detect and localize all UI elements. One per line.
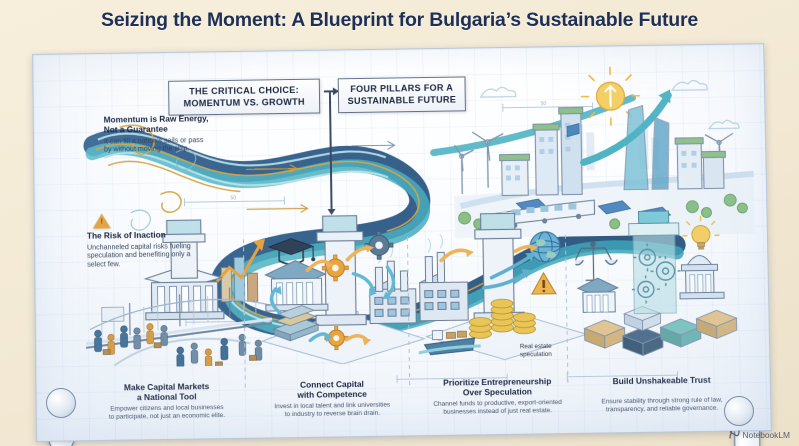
tree-icon (458, 194, 747, 231)
pillar-divider (243, 239, 246, 389)
university-icon (265, 260, 328, 311)
pillar-caption-capital-markets: Make Capital Markets a National Tool Emp… (76, 380, 257, 422)
cargo-ship-icon (418, 330, 480, 355)
arrow-between-headers (324, 90, 338, 92)
blueprint-scroll: 50 80 50 (34, 48, 768, 436)
coin-stack-icon (469, 299, 536, 339)
sun-icon (581, 67, 640, 126)
pillar-divider (407, 237, 410, 387)
solar-panel-icon (515, 122, 671, 221)
pillar-scene-entrepreneurship (417, 210, 595, 363)
scroll-curl-bottom-right (724, 396, 754, 426)
annotation-line1: Real estate (520, 343, 552, 350)
callout-momentum: Momentum is Raw Energy, Not a Guarantee … (104, 114, 209, 154)
momentum-streams: 50 80 50 (33, 44, 772, 442)
callout-heading-line2: Not a Guarantee (104, 123, 168, 134)
pillar-title-line1: Connect Capital (300, 379, 364, 390)
pillar-title-line2: a National Tool (137, 391, 197, 402)
globe-icon (530, 232, 561, 262)
lightbulb-icon (683, 216, 720, 250)
callout-heading-line1: Momentum is Raw Energy, (104, 113, 209, 125)
scroll-curl-bottom-left (46, 388, 76, 418)
pillar-title-line1: Prioritize Entrepreneurship (443, 376, 551, 388)
pillar-scene-unshakeable-trust (574, 208, 757, 361)
pillar-title-line1: Make Capital Markets (124, 381, 209, 392)
gear-tower-icon (628, 211, 681, 314)
notebooklm-watermark: NotebookLM (729, 429, 791, 440)
callout-body: Unchanneled capital risks fueling specul… (87, 242, 202, 269)
pillar-column-icon (163, 220, 206, 279)
header-box-critical-choice: THE CRITICAL CHOICE: MOMENTUM VS. GROWTH (168, 79, 320, 116)
svg-text:80: 80 (256, 315, 262, 321)
crowd-of-people-icon (94, 322, 262, 368)
pillar-desc-line2: to participate, not just an economic eli… (109, 412, 225, 421)
pillar-title-line2: Over Speculation (463, 386, 532, 397)
pillar-desc-line2: to industry to reverse brain drain. (285, 410, 380, 418)
header-box-four-pillars: FOUR PILLARS FOR A SUSTAINABLE FUTURE (338, 76, 466, 113)
infographic-canvas: Seizing the Moment: A Blueprint for Bulg… (0, 0, 799, 446)
arrow-down-to-pillars (329, 92, 333, 210)
header-box-line2: SUSTAINABLE FUTURE (348, 94, 457, 106)
capitol-dome-icon (679, 242, 724, 299)
graduation-cap-icon (269, 238, 315, 264)
page-title: Seizing the Moment: A Blueprint for Bulg… (0, 9, 799, 32)
pillar-title-line2: with Competence (297, 389, 367, 400)
pillar-desc-line1: Channel funds to productive, export-orie… (433, 399, 562, 408)
books-icon (274, 305, 319, 341)
scales-of-justice-icon (574, 242, 617, 281)
svg-text:50: 50 (541, 101, 547, 107)
callout-body: It can fill a nation’s sails or pass by … (104, 136, 209, 155)
pillar-divider (565, 235, 569, 385)
pillar-desc-line1: Ensure stability through strong rule of … (601, 397, 722, 406)
warning-triangle-icon (532, 273, 556, 294)
pillar-scene-capital-competence (257, 213, 429, 366)
factory-icon (419, 234, 468, 321)
factory-icon (369, 243, 416, 324)
bank-building-icon (145, 266, 224, 320)
blueprint-sheet: 50 80 50 (32, 43, 772, 442)
bridge-icon (85, 287, 272, 366)
gear-icon (322, 231, 395, 350)
svg-text:50: 50 (230, 195, 236, 201)
callout-risk-of-inaction: The Risk of Inaction Unchanneled capital… (87, 230, 202, 269)
sustainable-city-scene (452, 64, 755, 238)
pillar-caption-capital-competence: Connect Capital with Competence Invest i… (249, 378, 416, 420)
annotation-real-estate-speculation: Real estate speculation (505, 343, 567, 359)
notebooklm-icon (729, 429, 740, 440)
upward-arrow-icon (582, 95, 669, 162)
building-blocks-icon (584, 305, 737, 356)
annotation-line2: speculation (520, 351, 552, 358)
pillar-desc-line1: Empower citizens and local businesses (110, 404, 223, 413)
pillar-scene-capital-markets (83, 215, 275, 368)
pillar-desc-line1: Invest in local talent and link universi… (274, 401, 390, 410)
pillar-caption-entrepreneurship: Prioritize Entrepreneurship Over Specula… (409, 376, 586, 418)
header-box-line2: MOMENTUM VS. GROWTH (184, 96, 305, 108)
bank-building-icon (578, 278, 619, 313)
train-icon (494, 200, 594, 228)
pillar-desc-line2: businesses instead of just real estate. (443, 407, 552, 416)
pillar-desc-line2: transparency, and reliable governance. (606, 405, 718, 414)
callout-heading-line1: The Risk of Inaction (87, 230, 202, 241)
growth-chart-icon (211, 239, 266, 302)
header-box-line1: FOUR PILLARS FOR A (350, 83, 453, 94)
header-box-line1: THE CRITICAL CHOICE: (189, 85, 299, 97)
wind-turbine-icon (454, 128, 734, 194)
cloud-icon (480, 80, 738, 132)
watermark-label: NotebookLM (743, 430, 791, 440)
pillar-title-line1: Build Unshakeable Trust (613, 375, 711, 386)
warning-triangle-icon: ! (93, 213, 111, 228)
